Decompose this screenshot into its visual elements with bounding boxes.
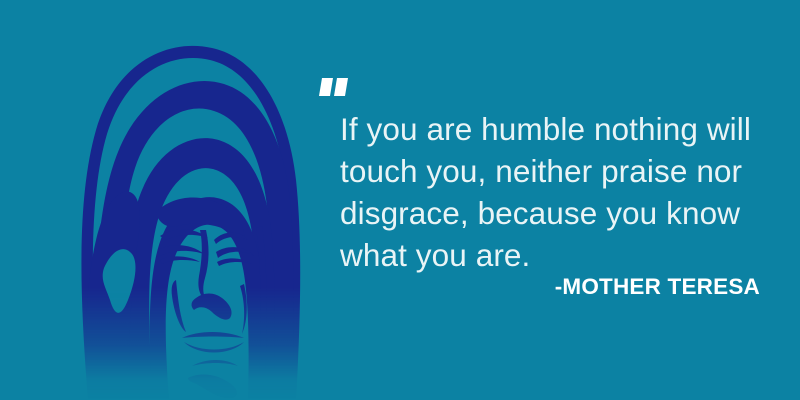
- eye-left-crease: [160, 256, 200, 264]
- veil-band-1: [95, 81, 293, 400]
- mother-teresa-portrait-icon: [0, 0, 320, 400]
- mouth-upper: [182, 332, 244, 338]
- cheek-line-right: [240, 284, 247, 334]
- chin-crease: [192, 360, 238, 366]
- quote-card: If you are humble nothing will touch you…: [0, 0, 800, 400]
- quotation-mark-icon: [318, 76, 358, 110]
- brow-right: [214, 233, 248, 245]
- forehead-shadow: [156, 197, 244, 240]
- veil-left-fall: [86, 191, 140, 400]
- brow-left: [160, 229, 208, 240]
- chin-shadow: [188, 375, 237, 399]
- quote-text: If you are humble nothing will touch you…: [340, 108, 772, 276]
- attribution-author: -MOTHER TERESA: [310, 274, 760, 300]
- veil-right-edge: [256, 226, 267, 400]
- portrait-illustration: [0, 0, 320, 400]
- cheek-line-left: [172, 280, 186, 332]
- eye-right-crease: [217, 258, 252, 266]
- veil-band-3: [150, 197, 263, 400]
- eye-left: [158, 245, 204, 256]
- eye-right: [216, 247, 254, 258]
- veil-left-highlight: [103, 249, 136, 313]
- nose-bridge: [198, 230, 208, 300]
- veil-band-2: [126, 138, 274, 400]
- nose: [192, 294, 232, 320]
- mouth-lower: [184, 342, 244, 353]
- veil-outline: [81, 46, 300, 400]
